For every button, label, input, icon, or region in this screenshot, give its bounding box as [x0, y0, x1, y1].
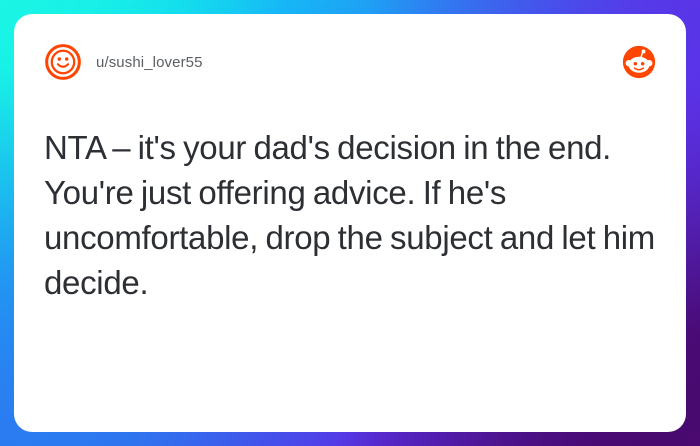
smiley-face-icon: [44, 43, 82, 81]
reddit-comment-card: u/sushi_lover55 NTA – it's your da: [14, 14, 686, 432]
screenshot-root: u/sushi_lover55 NTA – it's your da: [0, 0, 700, 446]
card-header: u/sushi_lover55: [44, 40, 656, 84]
reddit-snoo-icon[interactable]: [622, 45, 656, 79]
comment-text: NTA – it's your dad's decision in the en…: [44, 126, 656, 306]
username-label: u/sushi_lover55: [96, 54, 203, 71]
card-body: NTA – it's your dad's decision in the en…: [44, 126, 656, 402]
